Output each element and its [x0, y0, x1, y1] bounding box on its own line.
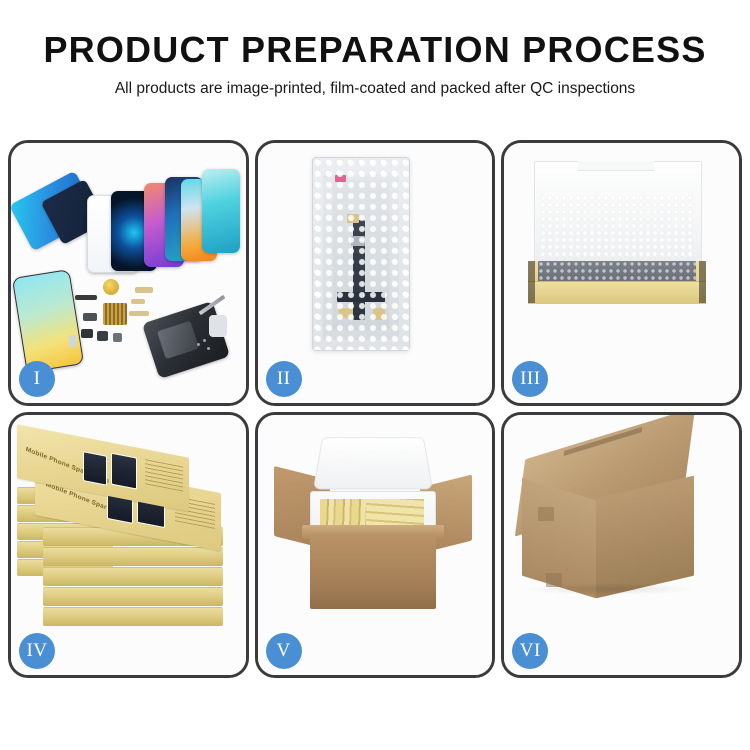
- lcd-connector-top: [347, 214, 359, 223]
- page-title: PRODUCT PREPARATION PROCESS: [0, 28, 750, 72]
- part-flex-cable-a: [135, 287, 153, 293]
- part-gold-coil: [103, 279, 119, 295]
- part-screw-3: [207, 347, 210, 350]
- lcd-flex-cable: [353, 220, 365, 320]
- box-tray-front-face: [528, 281, 706, 304]
- part-screw-2: [203, 339, 206, 342]
- lcd-connector-bottom-left: [339, 308, 353, 318]
- phone-front-gradient: [12, 269, 84, 373]
- step-panel-2[interactable]: II: [255, 140, 496, 406]
- part-logic-board: [103, 303, 127, 325]
- page-subtitle: All products are image-printed, film-coa…: [0, 78, 750, 100]
- box-side-r5: [43, 607, 223, 626]
- box-tray-edge-left: [528, 261, 535, 303]
- step-panel-6[interactable]: VI: [501, 412, 742, 678]
- part-flex-cable-b: [131, 299, 145, 304]
- box-side-r3: [43, 567, 223, 586]
- box-tray-edge-right: [699, 261, 706, 303]
- part-sim-tray: [69, 335, 76, 347]
- box-stack: Mobile Phone Spare Parts Mobile Phone Sp…: [13, 429, 239, 625]
- box-side-r4: [43, 587, 223, 606]
- step-badge-1: I: [19, 361, 55, 397]
- page-root: PRODUCT PREPARATION PROCESS All products…: [0, 0, 750, 750]
- step-badge-4: IV: [19, 633, 55, 669]
- part-speaker: [81, 329, 93, 338]
- box-spec-lines-1: [145, 459, 183, 492]
- box-lid-tab: [578, 161, 654, 171]
- part-screw-1: [197, 343, 200, 346]
- phone-back-housing: [142, 301, 230, 379]
- phone-screen-cyan: [202, 169, 240, 253]
- carton-tape-upper: [538, 507, 554, 521]
- step-panel-3[interactable]: III: [501, 140, 742, 406]
- part-vibrator: [113, 333, 122, 342]
- box-thumbnail-1b: [111, 453, 137, 490]
- step-panel-5[interactable]: V: [255, 412, 496, 678]
- step-panel-4[interactable]: Mobile Phone Spare Parts Mobile Phone Sp…: [8, 412, 249, 678]
- part-bracket: [83, 313, 97, 321]
- step-badge-5: V: [266, 633, 302, 669]
- box-side-r2: [43, 547, 223, 566]
- part-flex-cable-c: [129, 311, 149, 316]
- process-steps-grid: I II: [8, 140, 742, 678]
- carton-right-face: [596, 476, 694, 599]
- lcd-connector-bottom-right: [373, 308, 385, 320]
- bubble-wrap-bag: [312, 157, 410, 351]
- pink-protective-tab: [335, 175, 346, 182]
- part-battery-strip: [75, 295, 97, 300]
- header: PRODUCT PREPARATION PROCESS All products…: [0, 28, 750, 100]
- part-tweezers: [209, 315, 227, 337]
- carton-body: [310, 533, 436, 609]
- step-badge-2: II: [266, 361, 302, 397]
- box-inner-white-foam: [540, 195, 694, 257]
- box-thumbnail-1a: [83, 451, 107, 486]
- lcd-driver-chip: [351, 236, 365, 246]
- lcd-bottom-board: [337, 292, 385, 302]
- foam-box-lid: [313, 437, 433, 489]
- part-camera-module: [97, 331, 108, 341]
- carton-shadow: [524, 583, 696, 595]
- step-panel-1[interactable]: I: [8, 140, 249, 406]
